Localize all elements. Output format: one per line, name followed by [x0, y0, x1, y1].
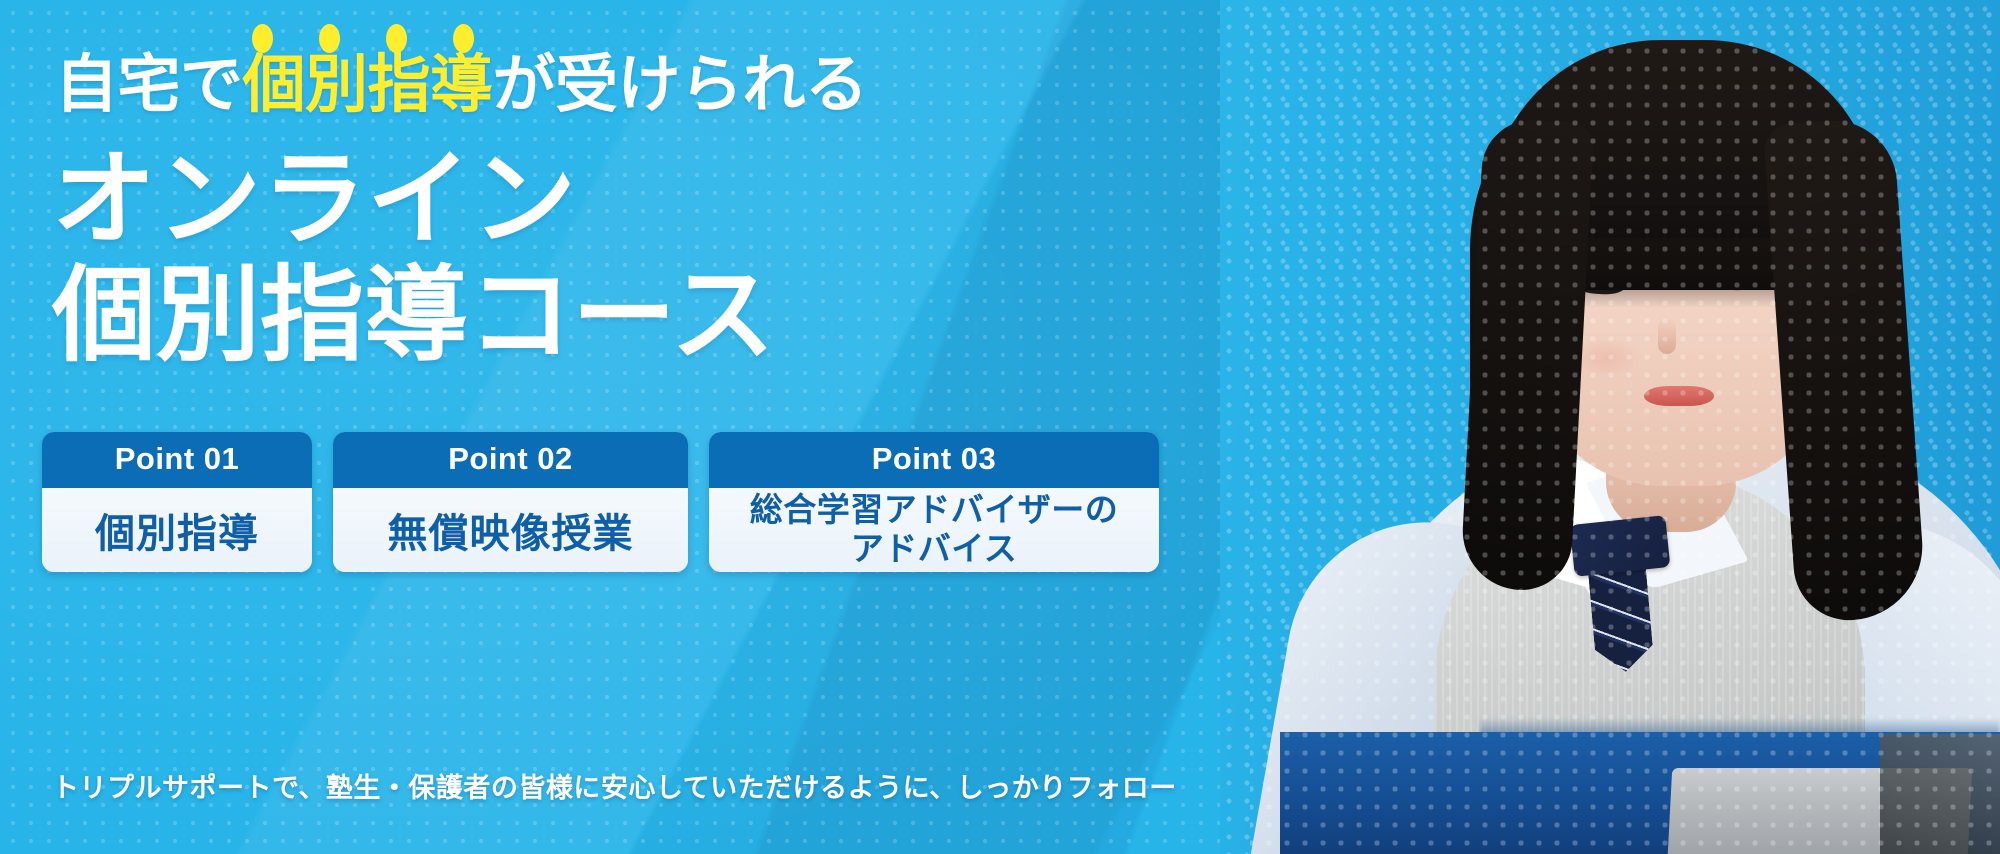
- title-line-2: 個別指導コース: [52, 258, 775, 374]
- point-card-3-title-line-1: 総合学習アドバイザーの: [750, 491, 1119, 530]
- point-card-3-label: Point 03: [709, 432, 1159, 488]
- point-card-3-title-line-2: アドバイス: [750, 530, 1119, 569]
- highlight-dot-2: [319, 24, 340, 53]
- point-card-3[interactable]: Point 03 総合学習アドバイザーの アドバイス: [709, 432, 1159, 572]
- point-card-2-label: Point 02: [333, 432, 688, 488]
- kicker-post: が受けられる: [493, 50, 868, 120]
- point-card-1-title: 個別指導: [42, 488, 312, 572]
- point-card-2[interactable]: Point 02 無償映像授業: [333, 432, 688, 572]
- hero-caption: トリプルサポートで、塾生・保護者の皆様に安心していただけるように、しっかりフォロ…: [52, 766, 1177, 805]
- point-card-1[interactable]: Point 01 個別指導: [42, 432, 312, 572]
- kicker-pre: 自宅で: [55, 50, 243, 120]
- background-dot-pattern-right: [1250, 0, 2000, 854]
- point-card-2-title: 無償映像授業: [333, 488, 688, 572]
- title-line-1: オンライン: [52, 142, 775, 258]
- kicker-highlight: 個別指導: [243, 52, 493, 119]
- hero-content: 自宅で個別指導が受けられる オンライン 個別指導コース Point 01 個別指…: [0, 0, 1200, 854]
- hero-banner: 自宅で個別指導が受けられる オンライン 個別指導コース Point 01 個別指…: [0, 0, 2000, 854]
- point-card-1-label: Point 01: [42, 432, 312, 488]
- highlight-dot-4: [453, 24, 474, 53]
- point-card-3-title: 総合学習アドバイザーの アドバイス: [709, 488, 1159, 572]
- highlight-dots: [252, 24, 474, 53]
- point-cards: Point 01 個別指導 Point 02 無償映像授業 Point 03 総…: [42, 432, 1159, 572]
- page-title: オンライン 個別指導コース: [52, 142, 775, 375]
- highlight-dot-3: [386, 24, 407, 53]
- hero-kicker: 自宅で個別指導が受けられる: [55, 52, 868, 119]
- highlight-dot-1: [252, 24, 273, 53]
